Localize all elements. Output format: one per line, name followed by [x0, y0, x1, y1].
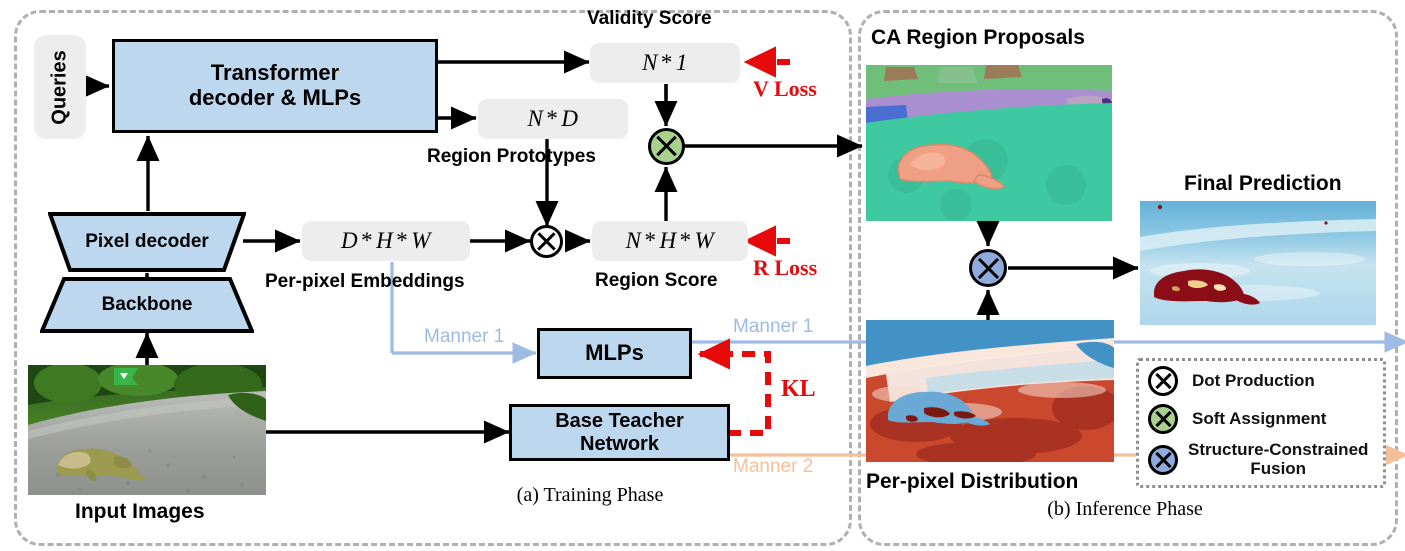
structure-constrained-fusion-icon	[1148, 445, 1178, 475]
manner1-left-label: Manner 1	[424, 326, 504, 348]
dim-op: *	[677, 228, 695, 254]
queries-label: Queries	[49, 50, 72, 124]
dim-n: N	[626, 228, 642, 254]
dim-d: D	[561, 106, 578, 132]
input-images-caption: Input Images	[75, 500, 205, 524]
dot-production-icon	[530, 225, 563, 258]
base-teacher-network-label: Base Teacher Network	[555, 410, 684, 455]
region-score-caption: Region Score	[595, 270, 717, 292]
input-image	[28, 365, 266, 495]
queries-box: Queries	[34, 35, 86, 139]
manner1-right-label: Manner 1	[733, 316, 813, 338]
ca-region-proposals-image	[866, 65, 1112, 221]
v-loss-label: V Loss	[753, 76, 817, 102]
manner2-label: Manner 2	[733, 456, 813, 478]
dim-n: N	[642, 50, 658, 76]
dim-d: D	[341, 228, 358, 254]
dim-n: N	[528, 106, 544, 132]
validity-score-box: N * 1	[590, 43, 740, 83]
legend-label: Structure-Constrained Fusion	[1188, 441, 1368, 478]
region-prototypes-caption: Region Prototypes	[427, 146, 596, 168]
kl-label: KL	[781, 376, 816, 403]
per-pixel-distribution-image	[866, 320, 1114, 462]
legend-label: Dot Production	[1192, 372, 1315, 391]
legend-item-soft-assignment: Soft Assignment	[1148, 404, 1326, 434]
soft-assignment-icon	[1148, 404, 1178, 434]
dim-w: W	[695, 228, 715, 254]
region-score-box: N * H * W	[592, 221, 748, 261]
region-prototypes-box: N * D	[478, 99, 628, 139]
validity-score-caption: Validity Score	[587, 8, 712, 30]
ca-region-proposals-caption: CA Region Proposals	[871, 26, 1085, 50]
base-teacher-network-box: Base Teacher Network	[509, 404, 730, 461]
transformer-decoder-box: Transformer decoder & MLPs	[112, 39, 438, 133]
legend-label: Soft Assignment	[1192, 410, 1326, 429]
mlps-box: MLPs	[537, 328, 692, 379]
dim-op: *	[358, 228, 376, 254]
legend-item-structure-constrained-fusion: Structure-Constrained Fusion	[1148, 441, 1368, 478]
mlps-label: MLPs	[585, 341, 644, 366]
pixel-decoder-shape: Pixel decoder	[48, 211, 246, 273]
per-pixel-embeddings-caption: Per-pixel Embeddings	[265, 271, 465, 293]
per-pixel-distribution-caption: Per-pixel Distribution	[866, 470, 1078, 494]
dim-op: *	[658, 50, 676, 76]
dim-op: *	[543, 106, 561, 132]
pixel-decoder-label: Pixel decoder	[48, 211, 246, 273]
r-loss-label: R Loss	[753, 255, 817, 281]
per-pixel-embeddings-box: D * H * W	[302, 221, 470, 261]
legend-item-dot-production: Dot Production	[1148, 366, 1315, 396]
structure-constrained-fusion-icon	[969, 249, 1007, 287]
dim-h: H	[660, 228, 677, 254]
figure-root: (a) Training Phase (b) Inference Phase	[0, 0, 1405, 551]
soft-assignment-icon	[648, 128, 685, 165]
backbone-shape: Backbone	[40, 276, 254, 334]
dim-op: *	[393, 228, 411, 254]
dim-1: 1	[676, 50, 688, 76]
dim-op: *	[642, 228, 660, 254]
final-prediction-caption: Final Prediction	[1184, 172, 1342, 196]
dim-h: H	[376, 228, 393, 254]
backbone-label: Backbone	[40, 276, 254, 334]
training-phase-caption: (a) Training Phase	[475, 484, 705, 507]
transformer-decoder-label: Transformer decoder & MLPs	[189, 61, 361, 110]
dot-production-icon	[1148, 366, 1178, 396]
inference-phase-caption: (b) Inference Phase	[1010, 498, 1240, 521]
final-prediction-image	[1140, 201, 1376, 325]
dim-w: W	[411, 228, 431, 254]
